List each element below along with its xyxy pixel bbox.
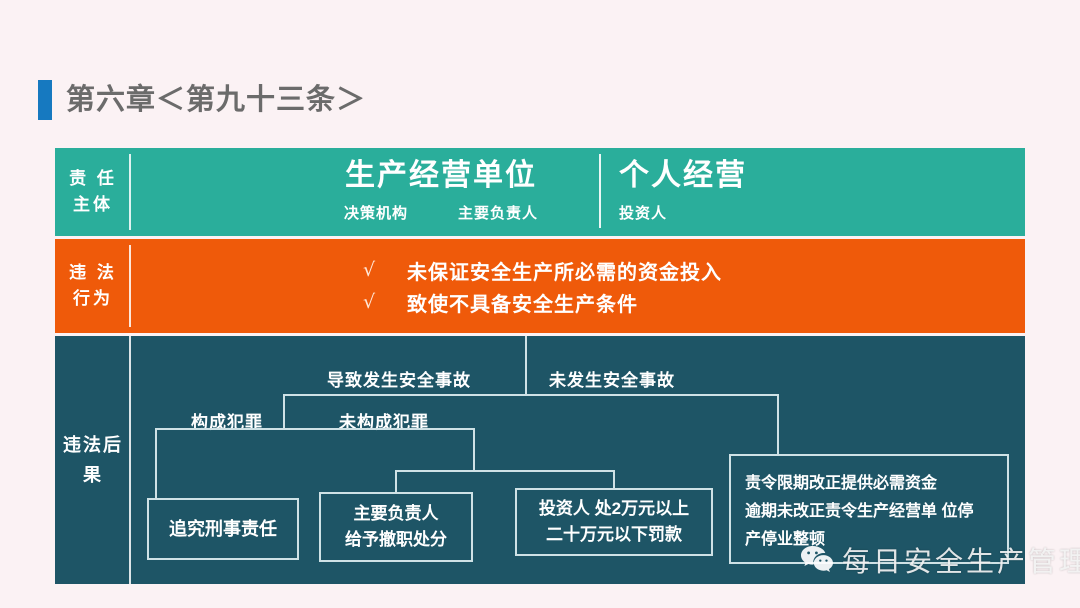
act-item-text: 未保证安全生产所必需的资金投入 bbox=[407, 256, 722, 285]
consequence-flowchart: 导致发生安全事故 未发生安全事故 构成犯罪 未构成犯罪 追究刑事 bbox=[131, 336, 1025, 584]
party-sub-decision-body: 决策机构 bbox=[344, 202, 408, 223]
row-label-act: 违 法 行为 bbox=[55, 239, 131, 333]
outcome-box-order: 责令限期改正提供必需资金 逾期未改正责令生产经营单 位停 产停业整顿 bbox=[729, 454, 1009, 564]
check-icon: √ bbox=[363, 291, 407, 313]
outcome-line: 给予撤职处分 bbox=[345, 527, 447, 553]
connector-no-accident-drop bbox=[777, 394, 779, 456]
connector-lower-bar bbox=[395, 470, 615, 472]
connector-crime-bar bbox=[155, 428, 475, 430]
party-sub-investor: 投资人 bbox=[619, 202, 667, 223]
outcome-box-dismissal: 主要负责人 给予撤职处分 bbox=[319, 492, 473, 562]
party-company-title: 生产经营单位 bbox=[281, 156, 601, 196]
outcome-line: 追究刑事责任 bbox=[169, 516, 277, 542]
outcome-line: 责令限期改正提供必需资金 bbox=[745, 470, 937, 498]
connector-accident-bar bbox=[283, 394, 779, 396]
party-company-subs: 决策机构 主要负责人 bbox=[281, 202, 601, 223]
party-personal-subs: 投资人 bbox=[619, 202, 919, 223]
act-content: √ 未保证安全生产所必需的资金投入 √ 致使不具备安全生产条件 bbox=[131, 239, 1025, 333]
row-label-act-line2: 行为 bbox=[69, 286, 117, 312]
row-label-subject-line2: 主体 bbox=[69, 192, 117, 218]
table-row-subject: 责 任 主体 生产经营单位 决策机构 主要负责人 个人经营 投资人 bbox=[55, 148, 1025, 236]
connector-criminal-drop bbox=[155, 428, 157, 498]
act-item-text: 致使不具备安全生产条件 bbox=[407, 288, 638, 317]
legal-liability-table: 责 任 主体 生产经营单位 决策机构 主要负责人 个人经营 投资人 bbox=[55, 148, 1025, 584]
connector-top-split bbox=[525, 336, 527, 394]
outcome-line: 主要负责人 bbox=[354, 501, 439, 527]
subject-content: 生产经营单位 决策机构 主要负责人 个人经营 投资人 bbox=[131, 148, 1025, 236]
branch-label-no-accident: 未发生安全事故 bbox=[549, 366, 675, 391]
check-icon: √ bbox=[363, 259, 407, 281]
connector-dismissal-drop bbox=[395, 470, 397, 492]
act-item: √ 致使不具备安全生产条件 bbox=[363, 286, 1025, 318]
outcome-line: 投资人 处2万元以上 bbox=[539, 496, 689, 522]
connector-nocrime-drop bbox=[473, 428, 475, 470]
row-label-consequence: 违法后果 bbox=[55, 336, 131, 584]
branch-label-accident: 导致发生安全事故 bbox=[327, 366, 471, 391]
table-row-consequence: 违法后果 导致发生安全事故 未发生安全事故 构成犯罪 未构成犯罪 bbox=[55, 336, 1025, 584]
connector-fine-drop bbox=[613, 470, 615, 488]
party-personal-title: 个人经营 bbox=[619, 156, 919, 196]
party-sub-principal: 主要负责人 bbox=[458, 202, 538, 223]
row-label-consequence-text: 违法后果 bbox=[55, 430, 131, 490]
party-personal: 个人经营 投资人 bbox=[599, 156, 919, 223]
party-company: 生产经营单位 决策机构 主要负责人 bbox=[281, 156, 601, 223]
row-label-act-line1: 违 法 bbox=[69, 260, 117, 286]
title-accent-bar bbox=[38, 80, 52, 120]
outcome-box-fine: 投资人 处2万元以上 二十万元以下罚款 bbox=[515, 488, 713, 556]
outcome-line: 产停业整顿 bbox=[745, 526, 825, 554]
page-title: 第六章＜第九十三条＞ bbox=[66, 86, 366, 115]
act-item: √ 未保证安全生产所必需的资金投入 bbox=[363, 254, 1025, 286]
table-row-act: 违 法 行为 √ 未保证安全生产所必需的资金投入 √ 致使不具备安全生产条件 bbox=[55, 239, 1025, 333]
outcome-box-criminal: 追究刑事责任 bbox=[147, 498, 299, 560]
outcome-line: 逾期未改正责令生产经营单 位停 bbox=[745, 498, 973, 526]
page-title-row: 第六章＜第九十三条＞ bbox=[0, 78, 1080, 122]
outcome-line: 二十万元以下罚款 bbox=[546, 522, 682, 548]
connector-crime-split bbox=[283, 394, 285, 428]
row-label-subject-line1: 责 任 bbox=[69, 166, 117, 192]
row-label-subject: 责 任 主体 bbox=[55, 148, 131, 236]
